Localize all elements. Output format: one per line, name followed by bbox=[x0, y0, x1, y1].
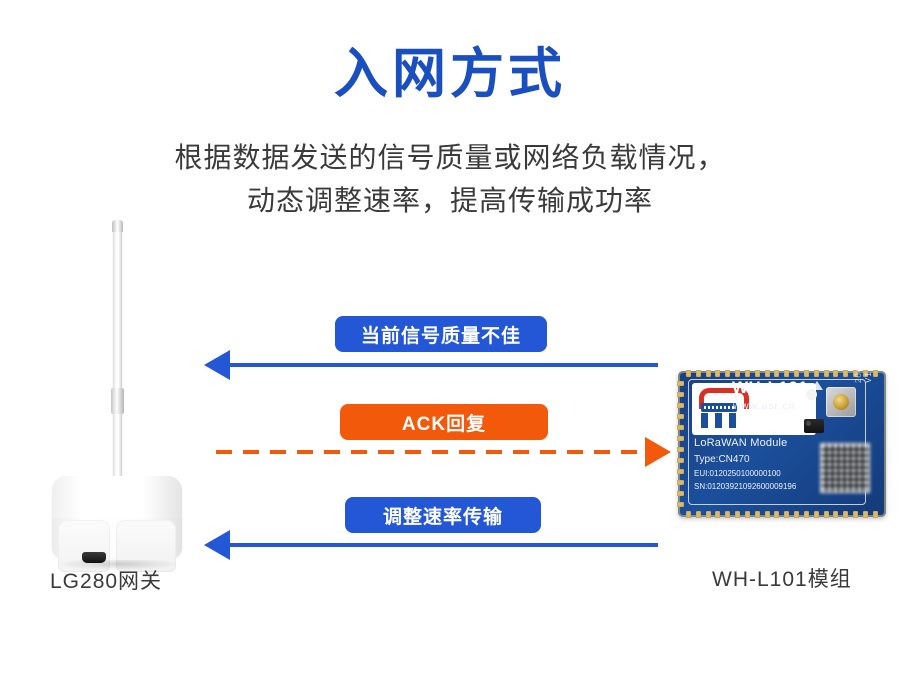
castellated-pads-left bbox=[677, 381, 684, 507]
ipex-antenna-connector bbox=[826, 387, 856, 417]
flow-1-line bbox=[229, 363, 658, 367]
castellated-pads-bottom bbox=[686, 511, 878, 518]
module-url-silk: www.usr.cn bbox=[733, 401, 796, 412]
flow-1-arrowhead bbox=[204, 350, 230, 380]
flow-2-label: ACK回复 bbox=[402, 409, 486, 436]
flow-2-arrowhead bbox=[645, 437, 671, 467]
module-type-line: Type:CN470 bbox=[694, 454, 750, 465]
qr-code bbox=[820, 443, 870, 493]
module-caption: WH-L101模组 bbox=[712, 563, 852, 593]
flow-2-line bbox=[216, 450, 646, 454]
page-subtitle: 根据数据发送的信号质量或网络负载情况， 动态调整速率，提高传输成功率 bbox=[0, 136, 900, 223]
antenna-tip bbox=[112, 220, 123, 232]
wh-l101-module-icon: WH-L101 www.usr.cn LoRaWAN Module Type:C… bbox=[678, 371, 886, 517]
page-title: 入网方式 bbox=[0, 46, 900, 103]
flow-1-badge: 当前信号质量不佳 bbox=[335, 316, 547, 352]
flow-1-label: 当前信号质量不佳 bbox=[361, 321, 521, 348]
logo-band bbox=[701, 403, 737, 412]
test-pad bbox=[806, 389, 817, 400]
subtitle-line-1: 根据数据发送的信号质量或网络负载情况， bbox=[0, 136, 900, 179]
module-eui: EUI:0120250100000100 bbox=[694, 469, 781, 478]
antenna-joint bbox=[111, 388, 124, 414]
module-info-block: LoRaWAN Module Type:CN470 EUI:0120250100… bbox=[692, 437, 816, 499]
subtitle-line-2: 动态调整速率，提高传输成功率 bbox=[0, 179, 900, 222]
module-version-silk: V1.1 bbox=[864, 363, 873, 383]
flow-2-badge: ACK回复 bbox=[340, 404, 548, 440]
infographic-canvas: 入网方式 根据数据发送的信号质量或网络负载情况， 动态调整速率，提高传输成功率 bbox=[0, 0, 900, 677]
flow-3-arrowhead bbox=[204, 530, 230, 560]
module-product-type: LoRaWAN Module bbox=[694, 437, 788, 449]
smd-component bbox=[804, 419, 824, 433]
module-datecode-silk: 2042 bbox=[854, 361, 863, 383]
flow-3-label: 调整速率传输 bbox=[383, 502, 503, 529]
logo-legs bbox=[701, 413, 737, 428]
flow-3-badge: 调整速率传输 bbox=[345, 497, 541, 533]
gateway-caption: LG280网关 bbox=[50, 565, 162, 595]
castellated-pads-top bbox=[686, 370, 878, 377]
flow-3-line bbox=[229, 543, 658, 547]
antenna-rod bbox=[113, 224, 122, 484]
module-name-silk: WH-L101 bbox=[732, 378, 808, 398]
lorawan-gateway-icon bbox=[52, 218, 182, 558]
module-sn: SN:01203921092600009196 bbox=[694, 482, 796, 491]
